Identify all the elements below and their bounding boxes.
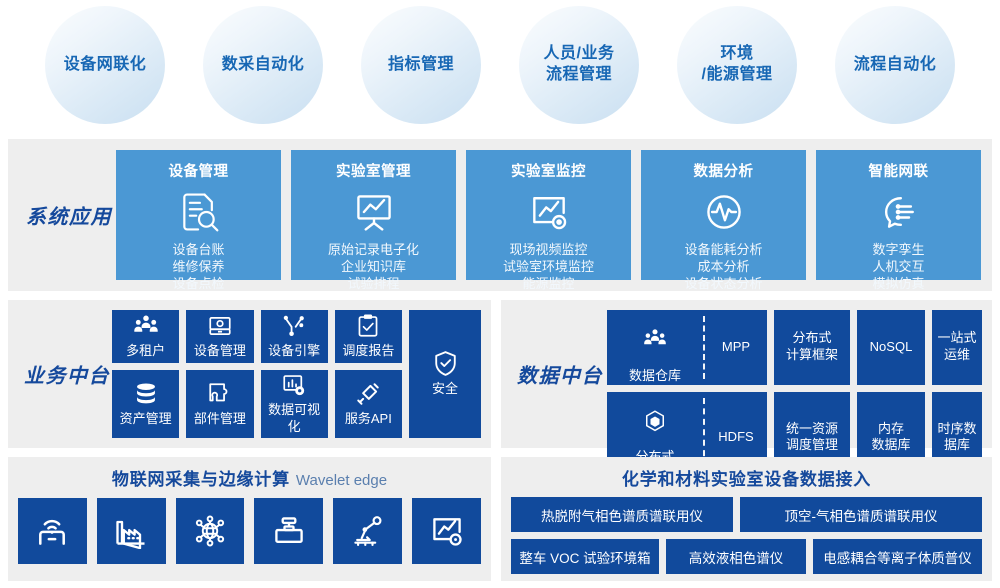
card-title: 设备管理 <box>169 160 229 181</box>
card-desc: 原始记录电子化 企业知识库 试验排程 <box>328 241 419 292</box>
tile-label: 设备管理 <box>194 343 246 360</box>
business-tile-device-management[interactable]: 设备管理 <box>186 310 253 363</box>
data-platform-label: 数据中台 <box>517 360 603 389</box>
capability-ellipse[interactable]: 流程自动化 <box>835 6 955 124</box>
business-tile-asset-management[interactable]: 资产管理 <box>112 370 179 438</box>
tile-label: 多租户 <box>126 343 165 360</box>
business-tile-multi-tenant[interactable]: 多租户 <box>112 310 179 363</box>
lab-chip-row-2: 整车 VOC 试验环境箱 高效液相色谱仪 电感耦合等离子体质普仪 <box>511 539 982 574</box>
wireless-gateway-icon <box>34 513 70 549</box>
system-card-device-management[interactable]: 设备管理 设备台账 维修保养 设备点检 <box>116 150 281 280</box>
capability-ellipse[interactable]: 数采自动化 <box>203 6 323 124</box>
business-tile-row-1: 多租户 设备管理 <box>112 310 402 363</box>
card-title: 智能网联 <box>869 160 929 181</box>
iot-icon-network-globe[interactable] <box>176 498 245 564</box>
sensor-valve-icon <box>271 513 307 549</box>
business-tile-service-api[interactable]: 服务API <box>335 370 402 438</box>
iot-icon-monitor-chart[interactable] <box>412 498 481 564</box>
card-desc: 设备能耗分析 成本分析 设备状态分析 <box>684 241 762 292</box>
tile-label: 安全 <box>432 381 458 398</box>
business-platform-band: 业务中台 多租户 <box>8 300 491 448</box>
presentation-chart-icon <box>352 190 396 234</box>
business-tile-row-2: 资产管理 部件管理 <box>112 370 402 438</box>
architecture-diagram: 设备网联化 数采自动化 指标管理 人员/业务 流程管理 环境 /能源管理 流程自… <box>0 0 1000 588</box>
data-tile-warehouse-mpp[interactable]: 数据仓库 MPP <box>607 310 767 385</box>
iot-panel-title: 物联网采集与边缘计算Wavelet edge <box>8 465 491 490</box>
lab-chip-rows: 热脱附气相色谱质谱联用仪 顶空-气相色谱质谱联用仪 整车 VOC 试验环境箱 高… <box>501 490 992 574</box>
data-visual-icon <box>281 372 307 398</box>
iot-icon-robot-arm[interactable] <box>333 498 402 564</box>
api-link-icon <box>355 381 381 407</box>
tile-label: 服务API <box>345 411 392 428</box>
cube-storage-icon <box>643 392 667 450</box>
business-tile-security[interactable]: 安全 <box>409 310 481 438</box>
business-tile-device-engine[interactable]: 设备引擎 <box>261 310 328 363</box>
system-card-lab-monitoring[interactable]: 实验室监控 现场视频监控 试验室环境监控 能源监控 <box>466 150 631 280</box>
business-tile-component-management[interactable]: 部件管理 <box>186 370 253 438</box>
tile-label: 部件管理 <box>194 411 246 428</box>
capability-label: 设备网联化 <box>64 55 147 76</box>
engine-node-icon <box>281 313 307 339</box>
data-warehouse-cell[interactable]: 数据仓库 <box>607 310 703 385</box>
tile-label: 调度报告 <box>342 343 394 360</box>
tile-label: 时序数据库 <box>936 421 978 455</box>
tile-label: MPP <box>722 339 750 356</box>
data-tile-grid: 数据仓库 MPP 分布式 计算框架 NoSQL 一站式运维 <box>607 310 982 438</box>
capability-label: 人员/业务 流程管理 <box>544 44 615 86</box>
iot-icon-factory[interactable] <box>97 498 166 564</box>
system-card-data-analysis[interactable]: 数据分析 设备能耗分析 成本分析 设备状态分析 <box>641 150 806 280</box>
data-tile-onestop-ops[interactable]: 一站式运维 <box>932 310 982 385</box>
system-application-cards: 设备管理 设备台账 维修保养 设备点检 实验室管理 <box>116 150 981 280</box>
puzzle-icon <box>207 381 233 407</box>
tile-label: 数据可视化 <box>265 402 324 436</box>
card-title: 实验室管理 <box>336 160 411 181</box>
robot-arm-icon <box>350 513 386 549</box>
tile-label: 分布式 计算框架 <box>786 330 838 364</box>
iot-subtitle-text: Wavelet edge <box>296 472 387 489</box>
monitor-chart-icon <box>527 190 571 234</box>
capability-ellipse[interactable]: 环境 /能源管理 <box>677 6 797 124</box>
capability-label: 流程自动化 <box>854 55 937 76</box>
data-platform-content: 数据仓库 MPP 分布式 计算框架 NoSQL 一站式运维 <box>607 310 982 438</box>
tile-label: 数据仓库 <box>629 368 681 385</box>
multi-tenant-icon <box>133 313 159 339</box>
capability-ellipse[interactable]: 指标管理 <box>361 6 481 124</box>
iot-icon-sensor-valve[interactable] <box>254 498 323 564</box>
lab-chip-row-1: 热脱附气相色谱质谱联用仪 顶空-气相色谱质谱联用仪 <box>511 497 982 532</box>
multi-tenant-icon <box>643 310 667 368</box>
pulse-circle-icon <box>702 190 746 234</box>
database-asset-icon <box>133 381 159 407</box>
business-tile-data-visualization[interactable]: 数据可视化 <box>261 370 328 438</box>
capability-ellipse-row: 设备网联化 数采自动化 指标管理 人员/业务 流程管理 环境 /能源管理 流程自… <box>0 0 1000 134</box>
system-card-intelligent-network[interactable]: 智能网联 数字孪生 人机交互 模拟仿真 <box>816 150 981 280</box>
business-platform-label: 业务中台 <box>24 360 110 389</box>
iot-title-text: 物联网采集与边缘计算 <box>112 470 290 489</box>
mpp-cell[interactable]: MPP <box>705 310 767 385</box>
business-tile-schedule-report[interactable]: 调度报告 <box>335 310 402 363</box>
iot-icon-wireless-gateway[interactable] <box>18 498 87 564</box>
card-title: 数据分析 <box>694 160 754 181</box>
ai-head-icon <box>877 190 921 234</box>
monitor-chart-icon <box>429 513 465 549</box>
capability-ellipse[interactable]: 人员/业务 流程管理 <box>519 6 639 124</box>
capability-label: 数采自动化 <box>222 55 305 76</box>
business-platform-content: 多租户 设备管理 <box>112 310 481 438</box>
lab-chip[interactable]: 电感耦合等离子体质普仪 <box>813 539 982 574</box>
tile-label: 内存 数据库 <box>871 421 910 455</box>
tile-label: 设备引擎 <box>268 343 320 360</box>
lab-panel-title: 化学和材料实验室设备数据接入 <box>501 465 992 490</box>
lab-equipment-band: 化学和材料实验室设备数据接入 热脱附气相色谱质谱联用仪 顶空-气相色谱质谱联用仪… <box>501 457 992 581</box>
clipboard-check-icon <box>356 313 380 339</box>
factory-icon <box>113 513 149 549</box>
device-box-icon <box>207 313 233 339</box>
system-card-lab-management[interactable]: 实验室管理 原始记录电子化 企业知识库 试验排程 <box>291 150 456 280</box>
iot-edge-band: 物联网采集与边缘计算Wavelet edge <box>8 457 491 581</box>
business-tile-grid: 多租户 设备管理 <box>112 310 402 438</box>
data-tile-row-1: 数据仓库 MPP 分布式 计算框架 NoSQL 一站式运维 <box>607 310 982 385</box>
shield-check-icon <box>433 350 458 377</box>
tile-label: HDFS <box>718 429 753 446</box>
tile-label: 资产管理 <box>120 411 172 428</box>
tile-label: 统一资源 调度管理 <box>786 421 838 455</box>
data-platform-band: 数据中台 数据仓库 <box>501 300 992 448</box>
system-application-band: 系统应用 设备管理 设备台账 维修保养 设备点检 实验室管理 <box>8 139 992 291</box>
lab-chip[interactable]: 热脱附气相色谱质谱联用仪 <box>511 497 733 532</box>
system-application-label: 系统应用 <box>26 201 112 230</box>
iot-icon-row <box>8 490 491 564</box>
card-title: 实验室监控 <box>511 160 586 181</box>
lab-chip[interactable]: 整车 VOC 试验环境箱 <box>511 539 659 574</box>
data-tile-nosql[interactable]: NoSQL <box>857 310 925 385</box>
lab-chip[interactable]: 高效液相色谱仪 <box>666 539 806 574</box>
capability-ellipse[interactable]: 设备网联化 <box>45 6 165 124</box>
document-search-icon <box>177 190 221 234</box>
capability-label: 环境 /能源管理 <box>702 44 773 86</box>
card-desc: 数字孪生 人机交互 模拟仿真 <box>872 241 924 292</box>
tile-label: 一站式运维 <box>936 330 978 364</box>
lab-chip[interactable]: 顶空-气相色谱质谱联用仪 <box>740 497 982 532</box>
tile-label: NoSQL <box>870 339 913 356</box>
network-globe-icon <box>192 513 228 549</box>
data-tile-distributed-compute[interactable]: 分布式 计算框架 <box>774 310 850 385</box>
card-desc: 现场视频监控 试验室环境监控 能源监控 <box>503 241 594 292</box>
capability-label: 指标管理 <box>388 55 454 76</box>
card-desc: 设备台账 维修保养 设备点检 <box>172 241 224 292</box>
dashed-divider <box>703 316 705 379</box>
